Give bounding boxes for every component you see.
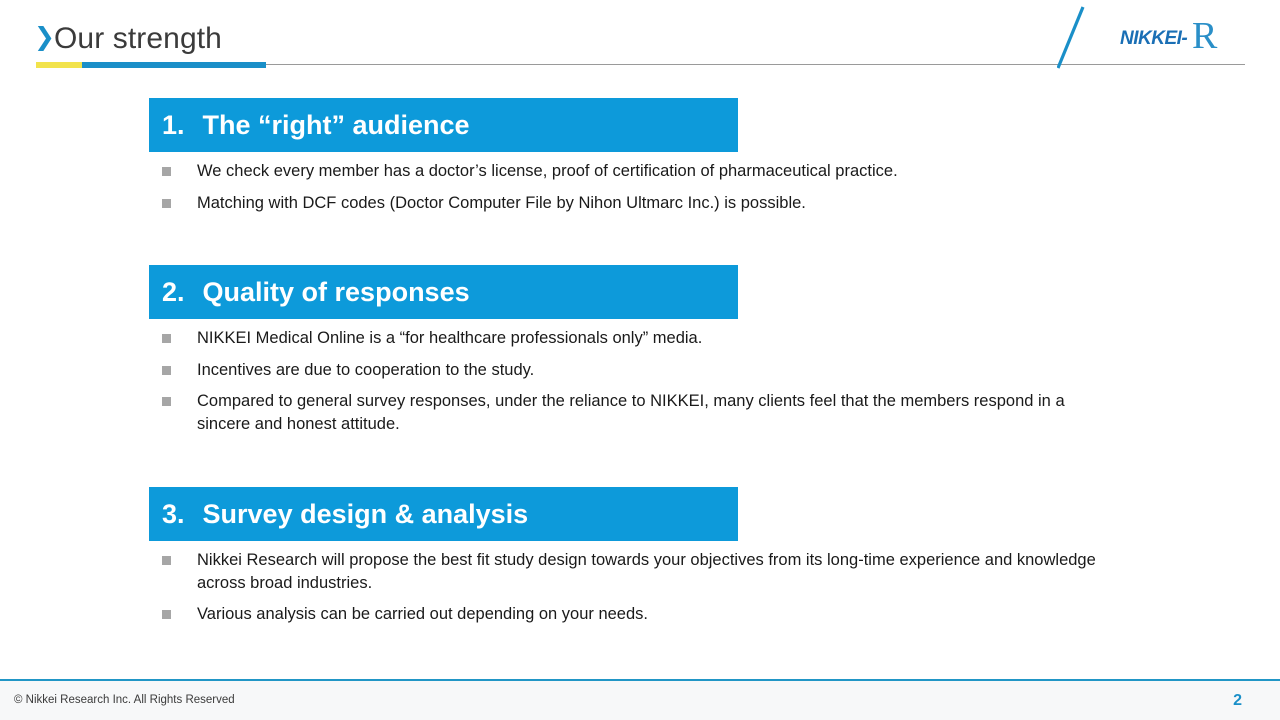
section-1-number: 1. (162, 110, 185, 140)
title-underline-gray (266, 64, 1245, 65)
slide-body: 1. The “right” audience We check every m… (0, 72, 1280, 672)
list-item-text: Compared to general survey responses, un… (197, 390, 1087, 435)
square-bullet-icon (162, 610, 171, 619)
title-underline-yellow (36, 62, 83, 68)
list-item-text: Nikkei Research will propose the best fi… (197, 549, 1147, 594)
section-2-number: 2. (162, 277, 185, 307)
square-bullet-icon (162, 366, 171, 375)
list-item: Matching with DCF codes (Doctor Computer… (162, 192, 1162, 215)
list-item: NIKKEI Medical Online is a “for healthca… (162, 327, 1087, 350)
list-item: Nikkei Research will propose the best fi… (162, 549, 1147, 594)
section-3-heading: Survey design & analysis (203, 499, 529, 529)
section-2-heading: Quality of responses (203, 277, 470, 307)
copyright-notice: © Nikkei Research Inc. All Rights Reserv… (14, 693, 235, 707)
section-3-number: 3. (162, 499, 185, 529)
square-bullet-icon (162, 167, 171, 176)
title-underline-blue (82, 62, 266, 68)
chevron-right-icon: ❯ (34, 24, 52, 50)
page-title: Our strength (54, 21, 222, 57)
list-item-text: Matching with DCF codes (Doctor Computer… (197, 192, 1162, 215)
section-1-header-bar: 1. The “right” audience (149, 98, 738, 152)
slide-canvas: ❯ Our strength NIKKEI- R 1. The “righ (0, 0, 1280, 720)
list-item: Compared to general survey responses, un… (162, 390, 1087, 435)
list-item-text: NIKKEI Medical Online is a “for healthca… (197, 327, 1087, 350)
list-item-text: We check every member has a doctor’s lic… (197, 160, 1162, 183)
slide-header: ❯ Our strength NIKKEI- R (0, 0, 1280, 72)
section-1-heading: The “right” audience (203, 110, 470, 140)
diagonal-slash-icon (1057, 6, 1087, 70)
section-2-bullet-list: NIKKEI Medical Online is a “for healthca… (162, 327, 1087, 435)
nikkei-r-logo: NIKKEI- R (1120, 16, 1230, 58)
list-item: Incentives are due to cooperation to the… (162, 359, 1087, 382)
square-bullet-icon (162, 199, 171, 208)
list-item-text: Incentives are due to cooperation to the… (197, 359, 1087, 382)
page-number: 2 (1233, 692, 1242, 710)
list-item: We check every member has a doctor’s lic… (162, 160, 1162, 183)
square-bullet-icon (162, 334, 171, 343)
svg-text:R: R (1192, 16, 1218, 57)
section-3-header-bar: 3. Survey design & analysis (149, 487, 738, 541)
svg-text:NIKKEI-: NIKKEI- (1120, 28, 1187, 49)
list-item: Various analysis can be carried out depe… (162, 603, 1147, 626)
slide-footer: © Nikkei Research Inc. All Rights Reserv… (0, 679, 1280, 720)
section-1-bullet-list: We check every member has a doctor’s lic… (162, 160, 1162, 214)
section-3-bullet-list: Nikkei Research will propose the best fi… (162, 549, 1147, 626)
list-item-text: Various analysis can be carried out depe… (197, 603, 1147, 626)
square-bullet-icon (162, 397, 171, 406)
square-bullet-icon (162, 556, 171, 565)
section-2-header-bar: 2. Quality of responses (149, 265, 738, 319)
